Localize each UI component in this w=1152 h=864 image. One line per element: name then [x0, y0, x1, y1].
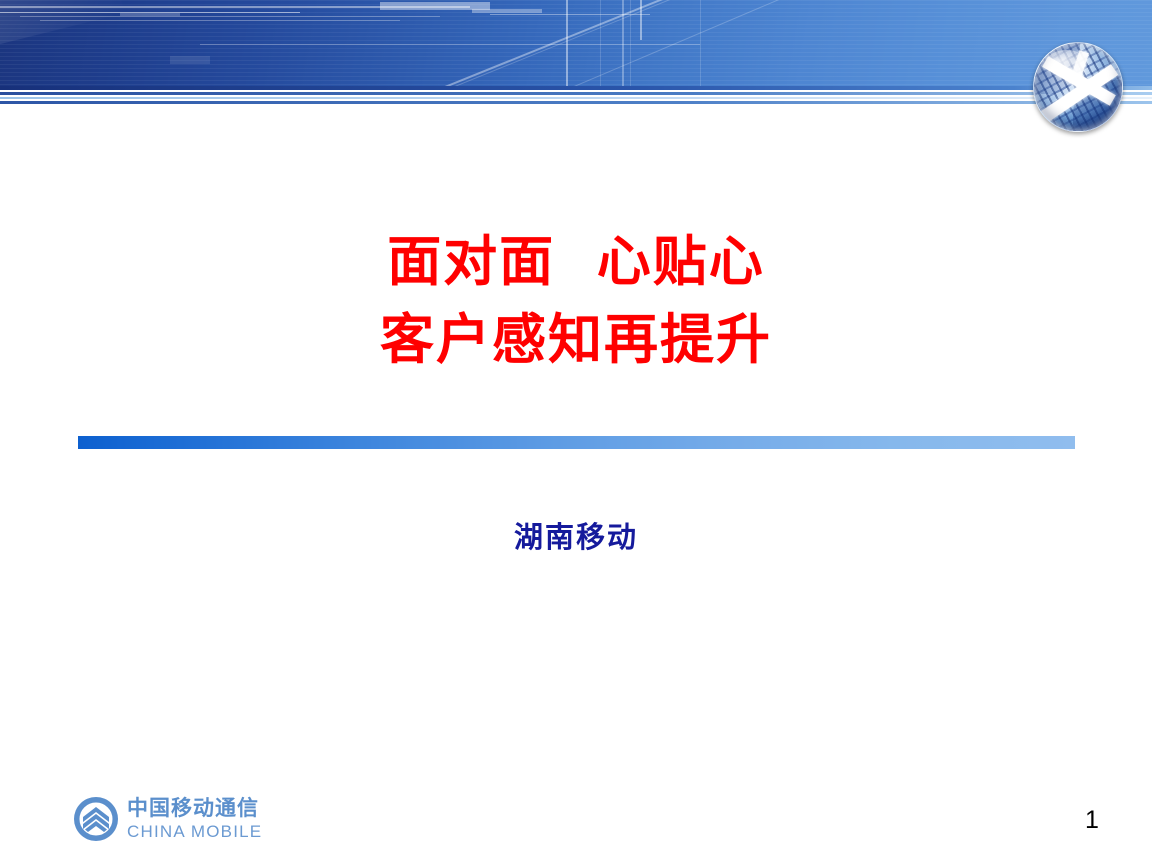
banner-line: [200, 44, 700, 45]
banner-vbar: [600, 0, 601, 86]
header-banner: [0, 0, 1152, 86]
banner-stripes: [0, 86, 1152, 108]
banner-block: [472, 9, 542, 13]
china-mobile-logo-text: 中国移动通信 CHINA MOBILE: [127, 798, 262, 840]
china-mobile-chinese-name: 中国移动通信: [127, 798, 262, 819]
globe-rim: [1034, 43, 1122, 131]
title-line-2: 客户感知再提升: [0, 300, 1152, 378]
subtitle: 湖南移动: [0, 514, 1152, 556]
title-line-1: 面对面 心贴心: [0, 222, 1152, 300]
banner-diagonal: [560, 0, 781, 86]
presentation-slide: 面对面 心贴心 客户感知再提升 湖南移动 中国移动通信 CHINA MOBILE…: [0, 0, 1152, 864]
china-mobile-english-name: CHINA MOBILE: [127, 823, 262, 840]
banner-vbar: [566, 0, 568, 86]
stripe: [0, 104, 1152, 108]
divider-bar: [78, 436, 1075, 449]
banner-vbar: [700, 0, 701, 86]
page-title: 面对面 心贴心 客户感知再提升: [0, 222, 1152, 378]
china-mobile-logo: 中国移动通信 CHINA MOBILE: [74, 797, 262, 841]
banner-block: [170, 56, 210, 64]
banner-vbar: [622, 0, 624, 86]
globe-network-logo-icon: [1033, 42, 1123, 132]
banner-vbar: [630, 0, 631, 86]
china-mobile-emblem-icon: [74, 797, 118, 841]
banner-vbar: [640, 0, 642, 40]
page-number: 1: [1085, 806, 1099, 835]
banner-line: [20, 16, 440, 17]
banner-line: [40, 20, 400, 21]
banner-block: [120, 13, 180, 16]
